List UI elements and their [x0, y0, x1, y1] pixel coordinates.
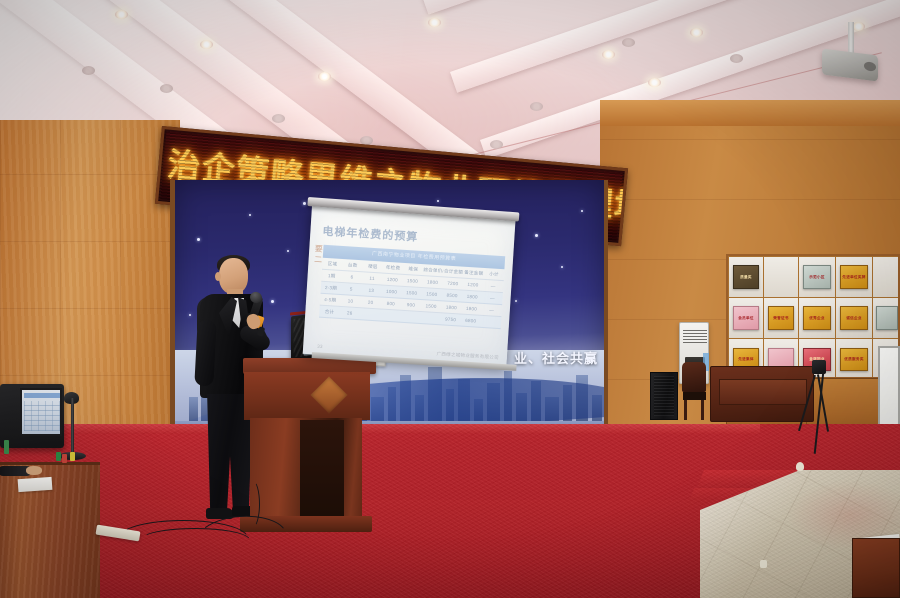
side-desk-panel	[719, 379, 807, 405]
downlight	[730, 54, 743, 63]
wall-right-top-band	[600, 100, 900, 126]
plaque-text: 先进单位奖牌	[842, 275, 865, 280]
ac-vents	[683, 329, 707, 343]
downlight	[272, 114, 285, 123]
table-cell	[400, 316, 420, 317]
shelf-cell: 优秀企业	[798, 297, 836, 339]
plaque-text: 优质服务奖	[844, 357, 863, 362]
shelf-cell: 优质服务奖	[835, 338, 873, 379]
table-cell: 8500	[442, 292, 462, 298]
award-plaque: 示范小区	[803, 265, 831, 288]
shelf-cell: 会员单位	[728, 297, 764, 339]
chair	[682, 362, 706, 420]
award-plaque: 先进单位奖牌	[840, 265, 868, 288]
award-plaque	[876, 306, 898, 329]
projector-mount-icon	[848, 22, 854, 54]
shelf-cell: 先进单位奖牌	[835, 256, 873, 298]
desk-item	[62, 454, 67, 463]
downlight	[428, 18, 441, 27]
shelf-cell	[872, 256, 900, 298]
table-cell: —	[483, 283, 503, 289]
table-cell: 1500	[401, 290, 421, 296]
table-cell: 4-5期	[320, 296, 341, 303]
speaker-ear	[215, 272, 221, 281]
table-cell: 1500	[422, 291, 442, 297]
table-cell: 5	[341, 286, 361, 292]
award-plaque: 优质服务奖	[840, 348, 868, 372]
floor-object	[796, 462, 804, 471]
table-cell: —	[481, 307, 501, 313]
table-cell: 9750	[440, 316, 460, 322]
slide-column-header: 维保	[403, 265, 424, 272]
table-cell: 1800	[422, 279, 442, 285]
downlight	[318, 72, 331, 81]
podium-side-panel	[300, 420, 344, 516]
downlight	[490, 140, 503, 149]
table-cell	[481, 321, 501, 322]
table-cell	[380, 315, 400, 316]
chair-back	[682, 362, 706, 392]
table-cell: 合计	[319, 308, 340, 315]
table-cell: 1800	[441, 304, 461, 310]
table-cell: 7200	[443, 280, 463, 286]
table-cell: 13	[361, 287, 381, 293]
stage-front-face	[0, 500, 770, 598]
shelf-cell	[872, 297, 900, 339]
shelf-cell	[763, 256, 799, 298]
table-cell: 1500	[402, 278, 422, 284]
slide-page-number: 33	[317, 344, 323, 350]
shelf-cell: 示范小区	[798, 256, 836, 298]
slide-column-header: 合计金额	[443, 268, 464, 275]
monitor-screen	[20, 388, 62, 436]
downlight	[622, 38, 635, 47]
desk-item	[4, 440, 9, 454]
slide-title: 电梯年检费的预算	[322, 223, 419, 245]
award-plaque: 会员单位	[733, 306, 760, 329]
downlight	[530, 102, 543, 111]
slide-table: 广西南宁物业项目 年检费用预算表 区域 台数 楼层 年检费 维保 综合单价/台 …	[319, 245, 505, 329]
slide-column-header: 区域	[322, 260, 343, 267]
table-cell: 1800	[461, 306, 481, 312]
plaque-text: 会员单位	[738, 316, 754, 321]
pa-speaker-box	[650, 372, 678, 420]
downlight	[200, 40, 213, 49]
stage-top-edge	[0, 424, 760, 434]
table-cell: 20	[360, 299, 380, 305]
slide-column-header: 综合单价/台	[423, 267, 444, 274]
floor-cable	[230, 480, 260, 528]
table-cell: 11	[362, 275, 382, 281]
table-cell: 1000	[381, 289, 401, 295]
slide-column-header: 楼层	[363, 263, 384, 270]
side-table-front	[852, 538, 900, 598]
slide-column-header: 小计	[484, 270, 505, 277]
table-cell: 2-3期	[321, 284, 342, 291]
speaker-grill	[654, 376, 674, 416]
award-plaque: 质量奖	[733, 265, 760, 288]
table-cell: 1200	[463, 282, 483, 288]
shelf-cell: 质量奖	[728, 256, 764, 298]
speaker-arm-left	[194, 320, 216, 387]
table-cell: —	[482, 295, 502, 301]
monitor-content-rows	[24, 401, 60, 431]
conference-hall-photo: 治企策略思维之物业预算管理培训	[0, 0, 900, 598]
shelf-cell: 荣誉证书	[763, 297, 799, 339]
operator-hand	[26, 466, 42, 475]
desk-microphone-pole	[71, 398, 74, 456]
slide-column-header: 年检费	[383, 264, 404, 271]
table-cell: 800	[381, 301, 401, 307]
downlight	[648, 78, 661, 87]
table-cell: 26	[339, 310, 359, 316]
plaque-text: 诚信企业	[846, 316, 862, 321]
downlight	[602, 50, 615, 59]
table-cell: 1500	[421, 303, 441, 309]
backdrop-slogan: 业、社会共赢	[514, 348, 598, 367]
downlight	[82, 66, 95, 75]
chair-seat	[683, 392, 706, 400]
table-cell: 10	[340, 298, 360, 304]
downlight	[690, 28, 703, 37]
slide-column-header: 台数	[342, 262, 363, 269]
table-cell: 6	[342, 274, 362, 280]
desk-paper	[18, 477, 53, 492]
podium-front-panel	[244, 372, 370, 420]
award-plaque: 荣誉证书	[768, 306, 795, 329]
desk-item	[56, 452, 61, 461]
downlight	[160, 84, 173, 93]
floor-object	[760, 560, 767, 568]
monitor-header-bar	[24, 393, 60, 398]
downlight	[115, 10, 128, 19]
table-cell: 1200	[382, 277, 402, 283]
plaque-text: 优秀企业	[809, 316, 825, 321]
projection-screen: 电梯年检费的预算 要 二 广西南宁物业项目 年检费用预算表 区域 台数 楼层 年…	[303, 206, 516, 367]
table-cell: 900	[401, 302, 421, 308]
plaque-text: 荣誉证书	[773, 316, 789, 321]
plaque-text: 质量奖	[740, 275, 752, 280]
table-cell	[360, 314, 380, 315]
plaque-text: 先进集体	[738, 357, 754, 362]
table-cell: 1800	[462, 294, 482, 300]
slide-column-header: 备注金额	[463, 269, 484, 276]
plaque-text: 示范小区	[809, 275, 825, 280]
table-cell: 1期	[321, 272, 342, 279]
award-plaque: 优秀企业	[803, 306, 831, 329]
table-cell: 6800	[461, 318, 481, 324]
shelf-cell: 诚信企业	[835, 297, 873, 339]
desk-item	[70, 452, 75, 461]
table-cell	[420, 318, 440, 319]
award-plaque: 诚信企业	[840, 306, 868, 329]
side-desk	[710, 366, 814, 422]
